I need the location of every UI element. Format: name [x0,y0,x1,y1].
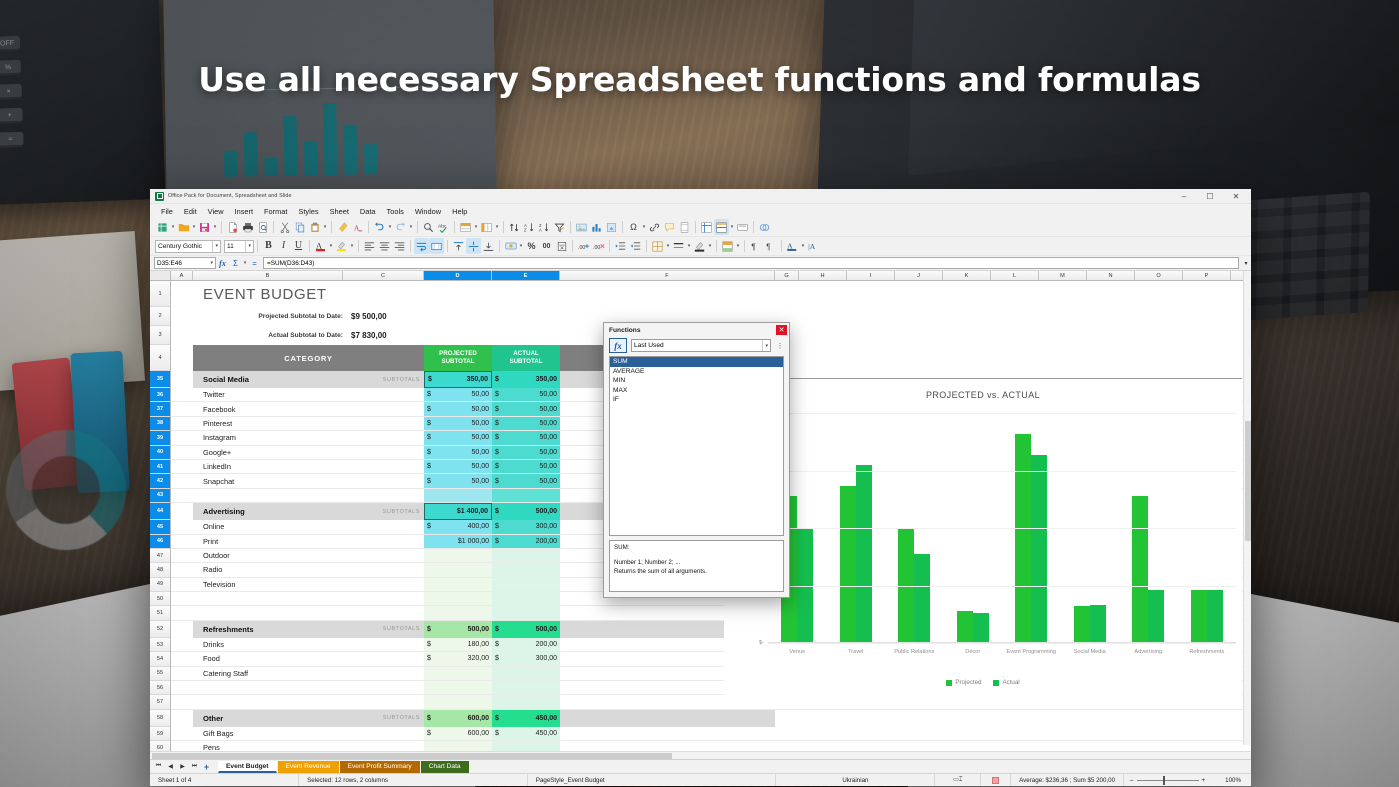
cell-B59[interactable]: Gift Bags [193,727,343,740]
cell-B43[interactable] [193,489,343,502]
cell-C47[interactable] [343,549,424,562]
zoom-slider[interactable]: – + [1124,774,1211,786]
cell-E45[interactable]: $300,00 [492,520,560,533]
font-size-combobox[interactable]: 11 ▾ [224,240,254,253]
column-header-M[interactable]: M [1039,271,1087,280]
column-header-G[interactable]: G [775,271,799,280]
cell-E42[interactable]: $50,00 [492,474,560,487]
cell-D60[interactable] [424,741,492,751]
function-list-item-sum[interactable]: SUM [610,357,783,367]
cell-D53[interactable]: $180,00 [424,638,492,651]
conditional-formatting-dropdown-icon[interactable]: ▾ [735,238,741,254]
increase-indent-icon[interactable] [613,238,628,254]
row-header-57[interactable]: 57 [150,695,170,709]
cell-F59[interactable] [560,727,775,740]
function-list-item-if[interactable]: IF [610,395,783,405]
cell-E39[interactable]: $50,00 [492,431,560,444]
cell-A4[interactable] [171,345,193,371]
chart-bar-actual-5[interactable] [1090,605,1106,642]
cell-A3[interactable] [171,326,193,345]
cell-E3[interactable] [492,326,560,345]
cell-E52[interactable]: $500,00 [492,621,560,638]
underline-button[interactable]: U [291,238,306,254]
cell-D37[interactable]: $50,00 [424,402,492,415]
menu-sheet[interactable]: Sheet [325,206,354,217]
wrap-text-icon[interactable] [414,238,429,254]
column-icon[interactable] [479,219,494,235]
row-header-56[interactable]: 56 [150,681,170,695]
number-format-icon[interactable]: 00 [539,238,554,254]
cell-E40[interactable]: $50,00 [492,446,560,459]
border-color-dropdown-icon[interactable]: ▾ [707,238,713,254]
special-character-icon[interactable]: Ω [626,219,641,235]
legend-item-actual[interactable]: Actual [993,679,1019,686]
column-header-A[interactable]: A [171,271,193,280]
cell-D35[interactable]: $350,00 [424,371,492,388]
headers-footers-icon[interactable] [677,219,692,235]
cell-C49[interactable] [343,578,424,591]
grid-row-60[interactable]: Pens [171,741,1251,751]
menu-format[interactable]: Format [259,206,292,217]
cell-C59[interactable] [343,727,424,740]
cell-C43[interactable] [343,489,424,502]
cell-E36[interactable]: $50,00 [492,388,560,401]
zoom-track[interactable] [1137,780,1199,781]
cell-D59[interactable]: $600,00 [424,727,492,740]
cell-C45[interactable] [343,520,424,533]
delete-decimal-icon[interactable]: .00 [591,238,606,254]
row-header-53[interactable]: 53 [150,638,170,652]
cell-D38[interactable]: $50,00 [424,417,492,430]
cell-D52[interactable]: $500,00 [424,621,492,638]
border-color-icon[interactable] [692,238,707,254]
cell-E37[interactable]: $50,00 [492,402,560,415]
cell-C57[interactable] [343,695,424,708]
cell-C2[interactable]: $9 500,00 [343,307,424,326]
cell-E2[interactable] [492,307,560,326]
insert-hyperlink-icon[interactable] [647,219,662,235]
row-header-48[interactable]: 48 [150,563,170,577]
function-category-chevron-down-icon[interactable]: ▾ [762,340,768,351]
cell-B35[interactable]: Social Media [193,371,343,388]
column-header-D[interactable]: D [424,271,492,280]
cell-D58[interactable]: $600,00 [424,710,492,727]
cell-B49[interactable]: Television [193,578,343,591]
cell-A53[interactable] [171,638,193,651]
cell-A39[interactable] [171,431,193,444]
split-window-icon[interactable] [714,219,729,235]
cell-E54[interactable]: $300,00 [492,652,560,665]
chart-bar-projected-7[interactable] [1191,590,1207,642]
cell-B1[interactable]: EVENT BUDGET [193,281,424,307]
cell-B46[interactable]: Print [193,535,343,548]
cell-E51[interactable] [492,606,560,619]
column-header-K[interactable]: K [943,271,991,280]
cell-D2[interactable] [424,307,492,326]
sheet-tab-event-profit-summary[interactable]: Event Profit Summary [340,761,420,773]
autofilter-icon[interactable] [552,219,567,235]
cell-E44[interactable]: $500,00 [492,503,560,520]
horizontal-scrollbar[interactable] [150,751,1251,759]
chart-bar-projected-3[interactable] [957,611,973,642]
function-wizard-icon[interactable]: fx [216,257,229,270]
column-header-E[interactable]: E [492,271,560,280]
row-icon[interactable] [458,219,473,235]
cell-B37[interactable]: Facebook [193,402,343,415]
paste-dropdown-icon[interactable]: ▾ [322,219,328,235]
formula-input[interactable]: =SUM(D36:D43) [263,257,1239,269]
cell-E57[interactable] [492,695,560,708]
row-header-3[interactable]: 3 [150,326,170,345]
name-box-chevron-down-icon[interactable]: ▾ [210,260,213,266]
print-preview-icon[interactable] [255,219,270,235]
cell-A46[interactable] [171,535,193,548]
sheet-tab-event-revenue[interactable]: Event Revenue [278,761,339,773]
chart-bar-actual-2[interactable] [914,554,930,642]
cell-C38[interactable] [343,417,424,430]
last-sheet-icon[interactable]: ⏭ [189,761,200,772]
save-icon[interactable] [197,219,212,235]
cell-E55[interactable] [492,667,560,680]
cell-C56[interactable] [343,681,424,694]
functions-dialog[interactable]: Functions ✕ fx Last Used ▾ ⋮ SUMAVERAGEM… [603,322,790,598]
cell-B41[interactable]: LinkedIn [193,460,343,473]
cell-E47[interactable] [492,549,560,562]
cell-D56[interactable] [424,681,492,694]
chart-bar-actual-6[interactable] [1148,590,1164,642]
cell-A50[interactable] [171,592,193,605]
row-header-1[interactable]: 1 [150,281,170,307]
cell-B58[interactable]: Other [193,710,343,727]
menu-window[interactable]: Window [410,206,446,217]
show-draw-functions-icon[interactable] [735,219,750,235]
font-name-chevron-down-icon[interactable]: ▾ [212,241,218,252]
cell-C41[interactable] [343,460,424,473]
borders-icon[interactable] [650,238,665,254]
expand-formula-bar-icon[interactable]: ▾ [1241,260,1251,267]
cell-D41[interactable]: $50,00 [424,460,492,473]
redo-icon[interactable] [393,219,408,235]
cell-D48[interactable] [424,563,492,576]
sort-icon[interactable] [507,219,522,235]
row-header-51[interactable]: 51 [150,606,170,620]
status-insert-mode[interactable]: ▭⌶ [935,774,981,786]
column-header-H[interactable]: H [799,271,847,280]
cell-B36[interactable]: Twitter [193,388,343,401]
cell-A55[interactable] [171,667,193,680]
insert-chart-icon[interactable] [589,219,604,235]
row-header-54[interactable]: 54 [150,652,170,666]
row-header-35[interactable]: 35 [150,371,170,388]
cell-A36[interactable] [171,388,193,401]
cell-B39[interactable]: Instagram [193,431,343,444]
function-category-select[interactable]: Last Used ▾ [631,339,771,352]
cell-B52[interactable]: Refreshments [193,621,343,638]
decrease-indent-icon[interactable] [628,238,643,254]
row-header-50[interactable]: 50 [150,592,170,606]
add-decimal-icon[interactable]: .00 [576,238,591,254]
zoom-in-button[interactable]: + [1202,777,1206,784]
cell-B40[interactable]: Google+ [193,446,343,459]
sheet-tab-event-budget[interactable]: Event Budget [218,761,277,773]
date-format-icon[interactable] [554,238,569,254]
italic-button[interactable]: I [276,238,291,254]
cell-A42[interactable] [171,474,193,487]
cell-D55[interactable] [424,667,492,680]
font-name-combobox[interactable]: Century Gothic ▾ [155,240,221,253]
previous-sheet-icon[interactable]: ◀ [165,761,176,772]
cell-E38[interactable]: $50,00 [492,417,560,430]
cell-E1[interactable] [492,281,560,307]
copy-icon[interactable] [292,219,307,235]
new-document-icon[interactable] [155,219,170,235]
cut-icon[interactable] [277,219,292,235]
align-bottom-icon[interactable] [481,238,496,254]
cell-C55[interactable] [343,667,424,680]
cell-C44[interactable]: SUBTOTALS [343,503,424,520]
row-header-60[interactable]: 60 [150,741,170,751]
functions-dialog-menu-icon[interactable]: ⋮ [775,342,785,350]
add-sheet-icon[interactable]: + [201,761,212,772]
cell-A38[interactable] [171,417,193,430]
cell-A44[interactable] [171,503,193,520]
cell-B4[interactable]: CATEGORY [193,345,424,371]
functions-dialog-close-icon[interactable]: ✕ [776,325,787,335]
cell-E60[interactable] [492,741,560,751]
sort-descending-icon[interactable]: ZA [537,219,552,235]
projected-vs-actual-chart[interactable]: PROJECTED vs. ACTUAL $500$- VenueTravelP… [724,378,1242,698]
cell-A56[interactable] [171,681,193,694]
legend-item-projected[interactable]: Projected [946,679,981,686]
column-header-F[interactable]: F [560,271,775,280]
cell-A2[interactable] [171,307,193,326]
cell-A40[interactable] [171,446,193,459]
conditional-formatting-icon[interactable] [720,238,735,254]
column-header-J[interactable]: J [895,271,943,280]
grid-row-58[interactable]: OtherSUBTOTALS$600,00$450,00 [171,710,1251,727]
row-header-43[interactable]: 43 [150,489,170,503]
cell-C3[interactable]: $7 830,00 [343,326,424,345]
column-header-B[interactable]: B [193,271,343,280]
cell-A59[interactable] [171,727,193,740]
open-folder-icon[interactable] [176,219,191,235]
cell-B55[interactable]: Catering Staff [193,667,343,680]
font-color-icon[interactable]: A [313,238,328,254]
align-top-icon[interactable] [451,238,466,254]
menu-file[interactable]: File [156,206,178,217]
horizontal-scroll-thumb[interactable] [152,753,672,759]
cell-B44[interactable]: Advertising [193,503,343,520]
grid-row-59[interactable]: Gift Bags$600,00$450,00 [171,727,1251,741]
cell-D1[interactable] [424,281,492,307]
percent-format-icon[interactable]: % [524,238,539,254]
sheet-tab-chart-data[interactable]: Chart Data [421,761,469,773]
status-save-icon[interactable] [981,774,1011,786]
cell-D54[interactable]: $320,00 [424,652,492,665]
function-wizard-icon[interactable]: fx [609,338,627,353]
maximize-button[interactable]: ☐ [1197,189,1223,204]
cell-E53[interactable]: $200,00 [492,638,560,651]
cell-C39[interactable] [343,431,424,444]
insert-image-icon[interactable] [574,219,589,235]
zoom-level-label[interactable]: 100% [1211,774,1251,786]
row-header-36[interactable]: 36 [150,388,170,402]
cell-B48[interactable]: Radio [193,563,343,576]
cell-C48[interactable] [343,563,424,576]
character-style-icon[interactable]: A [785,238,800,254]
chart-bar-projected-5[interactable] [1074,606,1090,642]
cell-B2[interactable]: Projected Subtotal to Date: [193,307,343,326]
cell-F58[interactable] [560,710,775,727]
cell-D36[interactable]: $50,00 [424,388,492,401]
menu-styles[interactable]: Styles [293,206,323,217]
cell-E50[interactable] [492,592,560,605]
cell-F60[interactable] [560,741,775,751]
vertical-scroll-thumb[interactable] [1245,421,1251,541]
cell-B42[interactable]: Snapchat [193,474,343,487]
cell-A54[interactable] [171,652,193,665]
align-right-icon[interactable] [392,238,407,254]
cell-D49[interactable] [424,578,492,591]
cell-E59[interactable]: $450,00 [492,727,560,740]
cell-A35[interactable] [171,371,193,388]
cell-D50[interactable] [424,592,492,605]
cell-B51[interactable] [193,606,343,619]
row-header-38[interactable]: 38 [150,417,170,431]
menu-insert[interactable]: Insert [230,206,258,217]
function-list-item-max[interactable]: MAX [610,386,783,396]
cell-E41[interactable]: $50,00 [492,460,560,473]
cell-B57[interactable] [193,695,343,708]
row-header-41[interactable]: 41 [150,460,170,474]
cell-E58[interactable]: $450,00 [492,710,560,727]
center-vertically-icon[interactable] [466,238,481,254]
paragraph-style-icon[interactable]: ¶ [763,238,778,254]
column-header-P[interactable]: P [1183,271,1231,280]
cell-B60[interactable]: Pens [193,741,343,751]
export-pdf-icon[interactable] [225,219,240,235]
cell-A37[interactable] [171,402,193,415]
cell-A51[interactable] [171,606,193,619]
column-header-L[interactable]: L [991,271,1039,280]
function-list-item-average[interactable]: AVERAGE [610,367,783,377]
row-header-58[interactable]: 58 [150,710,170,727]
cell-D40[interactable]: $50,00 [424,446,492,459]
chart-bar-actual-7[interactable] [1207,590,1223,642]
row-header-37[interactable]: 37 [150,402,170,416]
align-left-icon[interactable] [362,238,377,254]
cell-D46[interactable]: $1 000,00 [424,535,492,548]
name-box[interactable]: D35:E46 ▾ [154,257,216,269]
text-direction-icon[interactable]: |A [806,238,821,254]
cell-E4[interactable]: ACTUALSUBTOTAL [492,345,560,371]
cell-C51[interactable] [343,606,424,619]
cell-C42[interactable] [343,474,424,487]
cell-A49[interactable] [171,578,193,591]
column-dropdown-icon[interactable]: ▾ [494,219,500,235]
menu-help[interactable]: Help [447,206,472,217]
close-button[interactable]: ✕ [1223,189,1249,204]
highlight-color-dropdown-icon[interactable]: ▾ [349,238,355,254]
cell-C53[interactable] [343,638,424,651]
cell-B3[interactable]: Actual Subtotal to Date: [193,326,343,345]
border-style-icon[interactable] [671,238,686,254]
cell-C46[interactable] [343,535,424,548]
chart-bar-actual-4[interactable] [1031,455,1047,642]
show-formatting-marks-icon[interactable]: ¶ [748,238,763,254]
cell-B54[interactable]: Food [193,652,343,665]
chart-bar-projected-1[interactable] [840,486,856,642]
cell-A41[interactable] [171,460,193,473]
menu-tools[interactable]: Tools [382,206,409,217]
cell-C37[interactable] [343,402,424,415]
cell-A1[interactable] [171,281,193,307]
row-header-59[interactable]: 59 [150,727,170,741]
cell-A43[interactable] [171,489,193,502]
chart-bar-projected-4[interactable] [1015,434,1031,642]
column-header-I[interactable]: I [847,271,895,280]
cell-A52[interactable] [171,621,193,638]
cell-D57[interactable] [424,695,492,708]
highlight-color-icon[interactable] [334,238,349,254]
cell-C50[interactable] [343,592,424,605]
row-header-46[interactable]: 46 [150,535,170,549]
next-sheet-icon[interactable]: ▶ [177,761,188,772]
currency-format-icon[interactable] [503,238,518,254]
save-dropdown-icon[interactable]: ▾ [212,219,218,235]
first-sheet-icon[interactable]: ⏮ [153,761,164,772]
row-header-40[interactable]: 40 [150,446,170,460]
cell-E48[interactable] [492,563,560,576]
cell-A57[interactable] [171,695,193,708]
cell-A48[interactable] [171,563,193,576]
cell-B50[interactable] [193,592,343,605]
menu-edit[interactable]: Edit [179,206,202,217]
select-all-corner[interactable] [150,271,171,280]
cell-D39[interactable]: $50,00 [424,431,492,444]
cell-D3[interactable] [424,326,492,345]
row-header-42[interactable]: 42 [150,474,170,488]
cell-E49[interactable] [492,578,560,591]
cell-D44[interactable]: $1 400,00 [424,503,492,520]
cell-D43[interactable] [424,489,492,502]
menu-view[interactable]: View [203,206,229,217]
row-header-52[interactable]: 52 [150,621,170,638]
cell-C52[interactable]: SUBTOTALS [343,621,424,638]
undo-icon[interactable] [372,219,387,235]
cell-C35[interactable]: SUBTOTALS [343,371,424,388]
cell-D51[interactable] [424,606,492,619]
cell-E43[interactable] [492,489,560,502]
zoom-thumb[interactable] [1163,776,1165,785]
row-header-45[interactable]: 45 [150,520,170,534]
chart-bar-actual-3[interactable] [973,613,989,642]
find-replace-icon[interactable] [421,219,436,235]
sort-ascending-icon[interactable]: AZ [522,219,537,235]
shapes-icon[interactable] [757,219,772,235]
print-icon[interactable] [240,219,255,235]
cell-B56[interactable] [193,681,343,694]
cell-B53[interactable]: Drinks [193,638,343,651]
cell-C58[interactable]: SUBTOTALS [343,710,424,727]
cell-C40[interactable] [343,446,424,459]
zoom-out-button[interactable]: – [1130,777,1133,784]
cell-B47[interactable]: Outdoor [193,549,343,562]
freeze-rows-columns-icon[interactable] [699,219,714,235]
row-header-47[interactable]: 47 [150,549,170,563]
cell-C54[interactable] [343,652,424,665]
cell-D4[interactable]: PROJECTEDSUBTOTAL [424,345,492,371]
